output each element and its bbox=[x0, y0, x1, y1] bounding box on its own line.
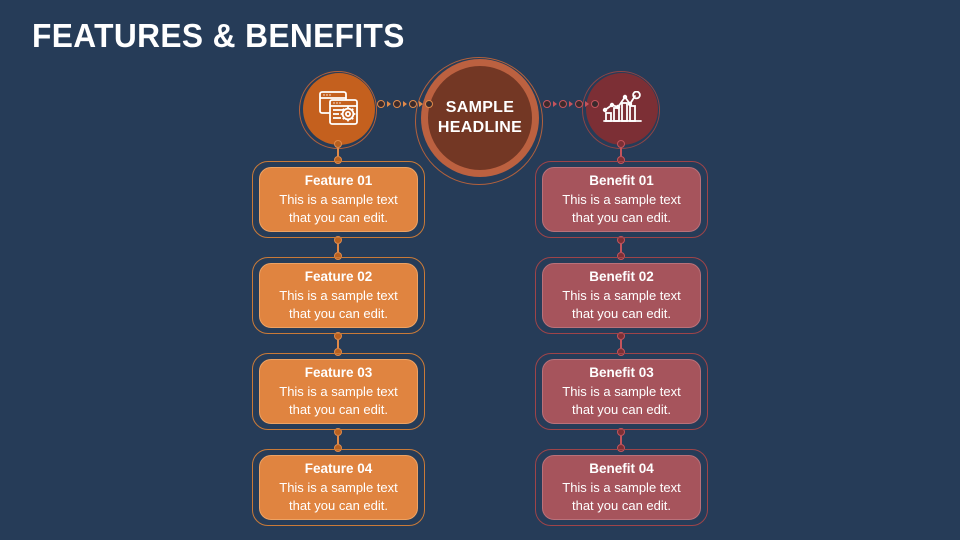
benefit-card-inner: Benefit 01 This is a sample text that yo… bbox=[542, 167, 701, 232]
feature-card-line-2: that you can edit. bbox=[289, 305, 388, 323]
connector-line bbox=[337, 244, 338, 252]
benefit-card[interactable]: Benefit 01 This is a sample text that yo… bbox=[535, 161, 708, 238]
feature-card-line-1: This is a sample text bbox=[279, 287, 398, 305]
benefit-card-line-1: This is a sample text bbox=[562, 287, 681, 305]
headline-line-2: HEADLINE bbox=[438, 118, 522, 138]
connector-line bbox=[620, 436, 621, 444]
headline-inner-circle: SAMPLE HEADLINE bbox=[428, 66, 532, 170]
connector-line bbox=[620, 340, 621, 348]
connector-dot bbox=[334, 140, 342, 148]
benefit-card-line-1: This is a sample text bbox=[562, 383, 681, 401]
connector-arrow-icon bbox=[553, 101, 557, 107]
connector-dot bbox=[393, 100, 401, 108]
feature-card-title: Feature 04 bbox=[305, 460, 373, 478]
feature-card-inner: Feature 02 This is a sample text that yo… bbox=[259, 263, 418, 328]
connector-dot bbox=[617, 140, 625, 148]
feature-card-title: Feature 01 bbox=[305, 172, 373, 190]
connector-dot bbox=[409, 100, 417, 108]
benefit-card-title: Benefit 04 bbox=[589, 460, 654, 478]
headline-ring: SAMPLE HEADLINE bbox=[421, 59, 539, 177]
benefit-card[interactable]: Benefit 03 This is a sample text that yo… bbox=[535, 353, 708, 430]
connector-line bbox=[337, 148, 338, 156]
feature-card-line-1: This is a sample text bbox=[279, 191, 398, 209]
feature-card-title: Feature 02 bbox=[305, 268, 373, 286]
benefit-card-title: Benefit 02 bbox=[589, 268, 654, 286]
benefit-card-title: Benefit 01 bbox=[589, 172, 654, 190]
feature-card-line-2: that you can edit. bbox=[289, 497, 388, 515]
feature-card-inner: Feature 04 This is a sample text that yo… bbox=[259, 455, 418, 520]
bar-chart-growth-icon bbox=[586, 73, 658, 145]
connector-right-horizontal bbox=[543, 98, 583, 110]
feature-card-inner: Feature 03 This is a sample text that yo… bbox=[259, 359, 418, 424]
connector-dot bbox=[425, 100, 433, 108]
feature-card-title: Feature 03 bbox=[305, 364, 373, 382]
connector-dot bbox=[543, 100, 551, 108]
feature-card-inner: Feature 01 This is a sample text that yo… bbox=[259, 167, 418, 232]
headline-node[interactable]: SAMPLE HEADLINE bbox=[415, 57, 545, 187]
connector-arrow-icon bbox=[569, 101, 573, 107]
benefit-card-inner: Benefit 02 This is a sample text that yo… bbox=[542, 263, 701, 328]
feature-card-line-1: This is a sample text bbox=[279, 383, 398, 401]
feature-card[interactable]: Feature 04 This is a sample text that yo… bbox=[252, 449, 425, 526]
connector-arrow-icon bbox=[585, 101, 589, 107]
connector-line bbox=[337, 340, 338, 348]
benefit-card-inner: Benefit 03 This is a sample text that yo… bbox=[542, 359, 701, 424]
connector-dot bbox=[377, 100, 385, 108]
headline-line-1: SAMPLE bbox=[438, 98, 522, 118]
connector-line bbox=[620, 148, 621, 156]
browser-window-gear-icon bbox=[303, 73, 375, 145]
benefit-icon-node[interactable] bbox=[582, 71, 662, 151]
benefit-card-line-1: This is a sample text bbox=[562, 191, 681, 209]
feature-card-line-1: This is a sample text bbox=[279, 479, 398, 497]
connector-arrow-icon bbox=[403, 101, 407, 107]
connector-dot bbox=[559, 100, 567, 108]
connector-arrow-icon bbox=[419, 101, 423, 107]
benefit-card-inner: Benefit 04 This is a sample text that yo… bbox=[542, 455, 701, 520]
benefit-card-line-2: that you can edit. bbox=[572, 305, 671, 323]
feature-card-line-2: that you can edit. bbox=[289, 209, 388, 227]
feature-card[interactable]: Feature 02 This is a sample text that yo… bbox=[252, 257, 425, 334]
benefit-card[interactable]: Benefit 02 This is a sample text that yo… bbox=[535, 257, 708, 334]
benefit-card[interactable]: Benefit 04 This is a sample text that yo… bbox=[535, 449, 708, 526]
headline-text: SAMPLE HEADLINE bbox=[438, 98, 522, 138]
benefit-card-line-1: This is a sample text bbox=[562, 479, 681, 497]
feature-icon-node[interactable] bbox=[299, 71, 379, 151]
connector-left-horizontal bbox=[377, 98, 417, 110]
slide-canvas: FEATURES & BENEFITS bbox=[0, 0, 960, 540]
feature-card[interactable]: Feature 01 This is a sample text that yo… bbox=[252, 161, 425, 238]
benefit-card-line-2: that you can edit. bbox=[572, 401, 671, 419]
feature-card[interactable]: Feature 03 This is a sample text that yo… bbox=[252, 353, 425, 430]
benefit-card-title: Benefit 03 bbox=[589, 364, 654, 382]
connector-line bbox=[620, 244, 621, 252]
feature-card-line-2: that you can edit. bbox=[289, 401, 388, 419]
connector-dot bbox=[575, 100, 583, 108]
page-title: FEATURES & BENEFITS bbox=[32, 17, 405, 55]
benefit-card-line-2: that you can edit. bbox=[572, 209, 671, 227]
connector-line bbox=[337, 436, 338, 444]
benefit-card-line-2: that you can edit. bbox=[572, 497, 671, 515]
connector-dot bbox=[591, 100, 599, 108]
connector-arrow-icon bbox=[387, 101, 391, 107]
